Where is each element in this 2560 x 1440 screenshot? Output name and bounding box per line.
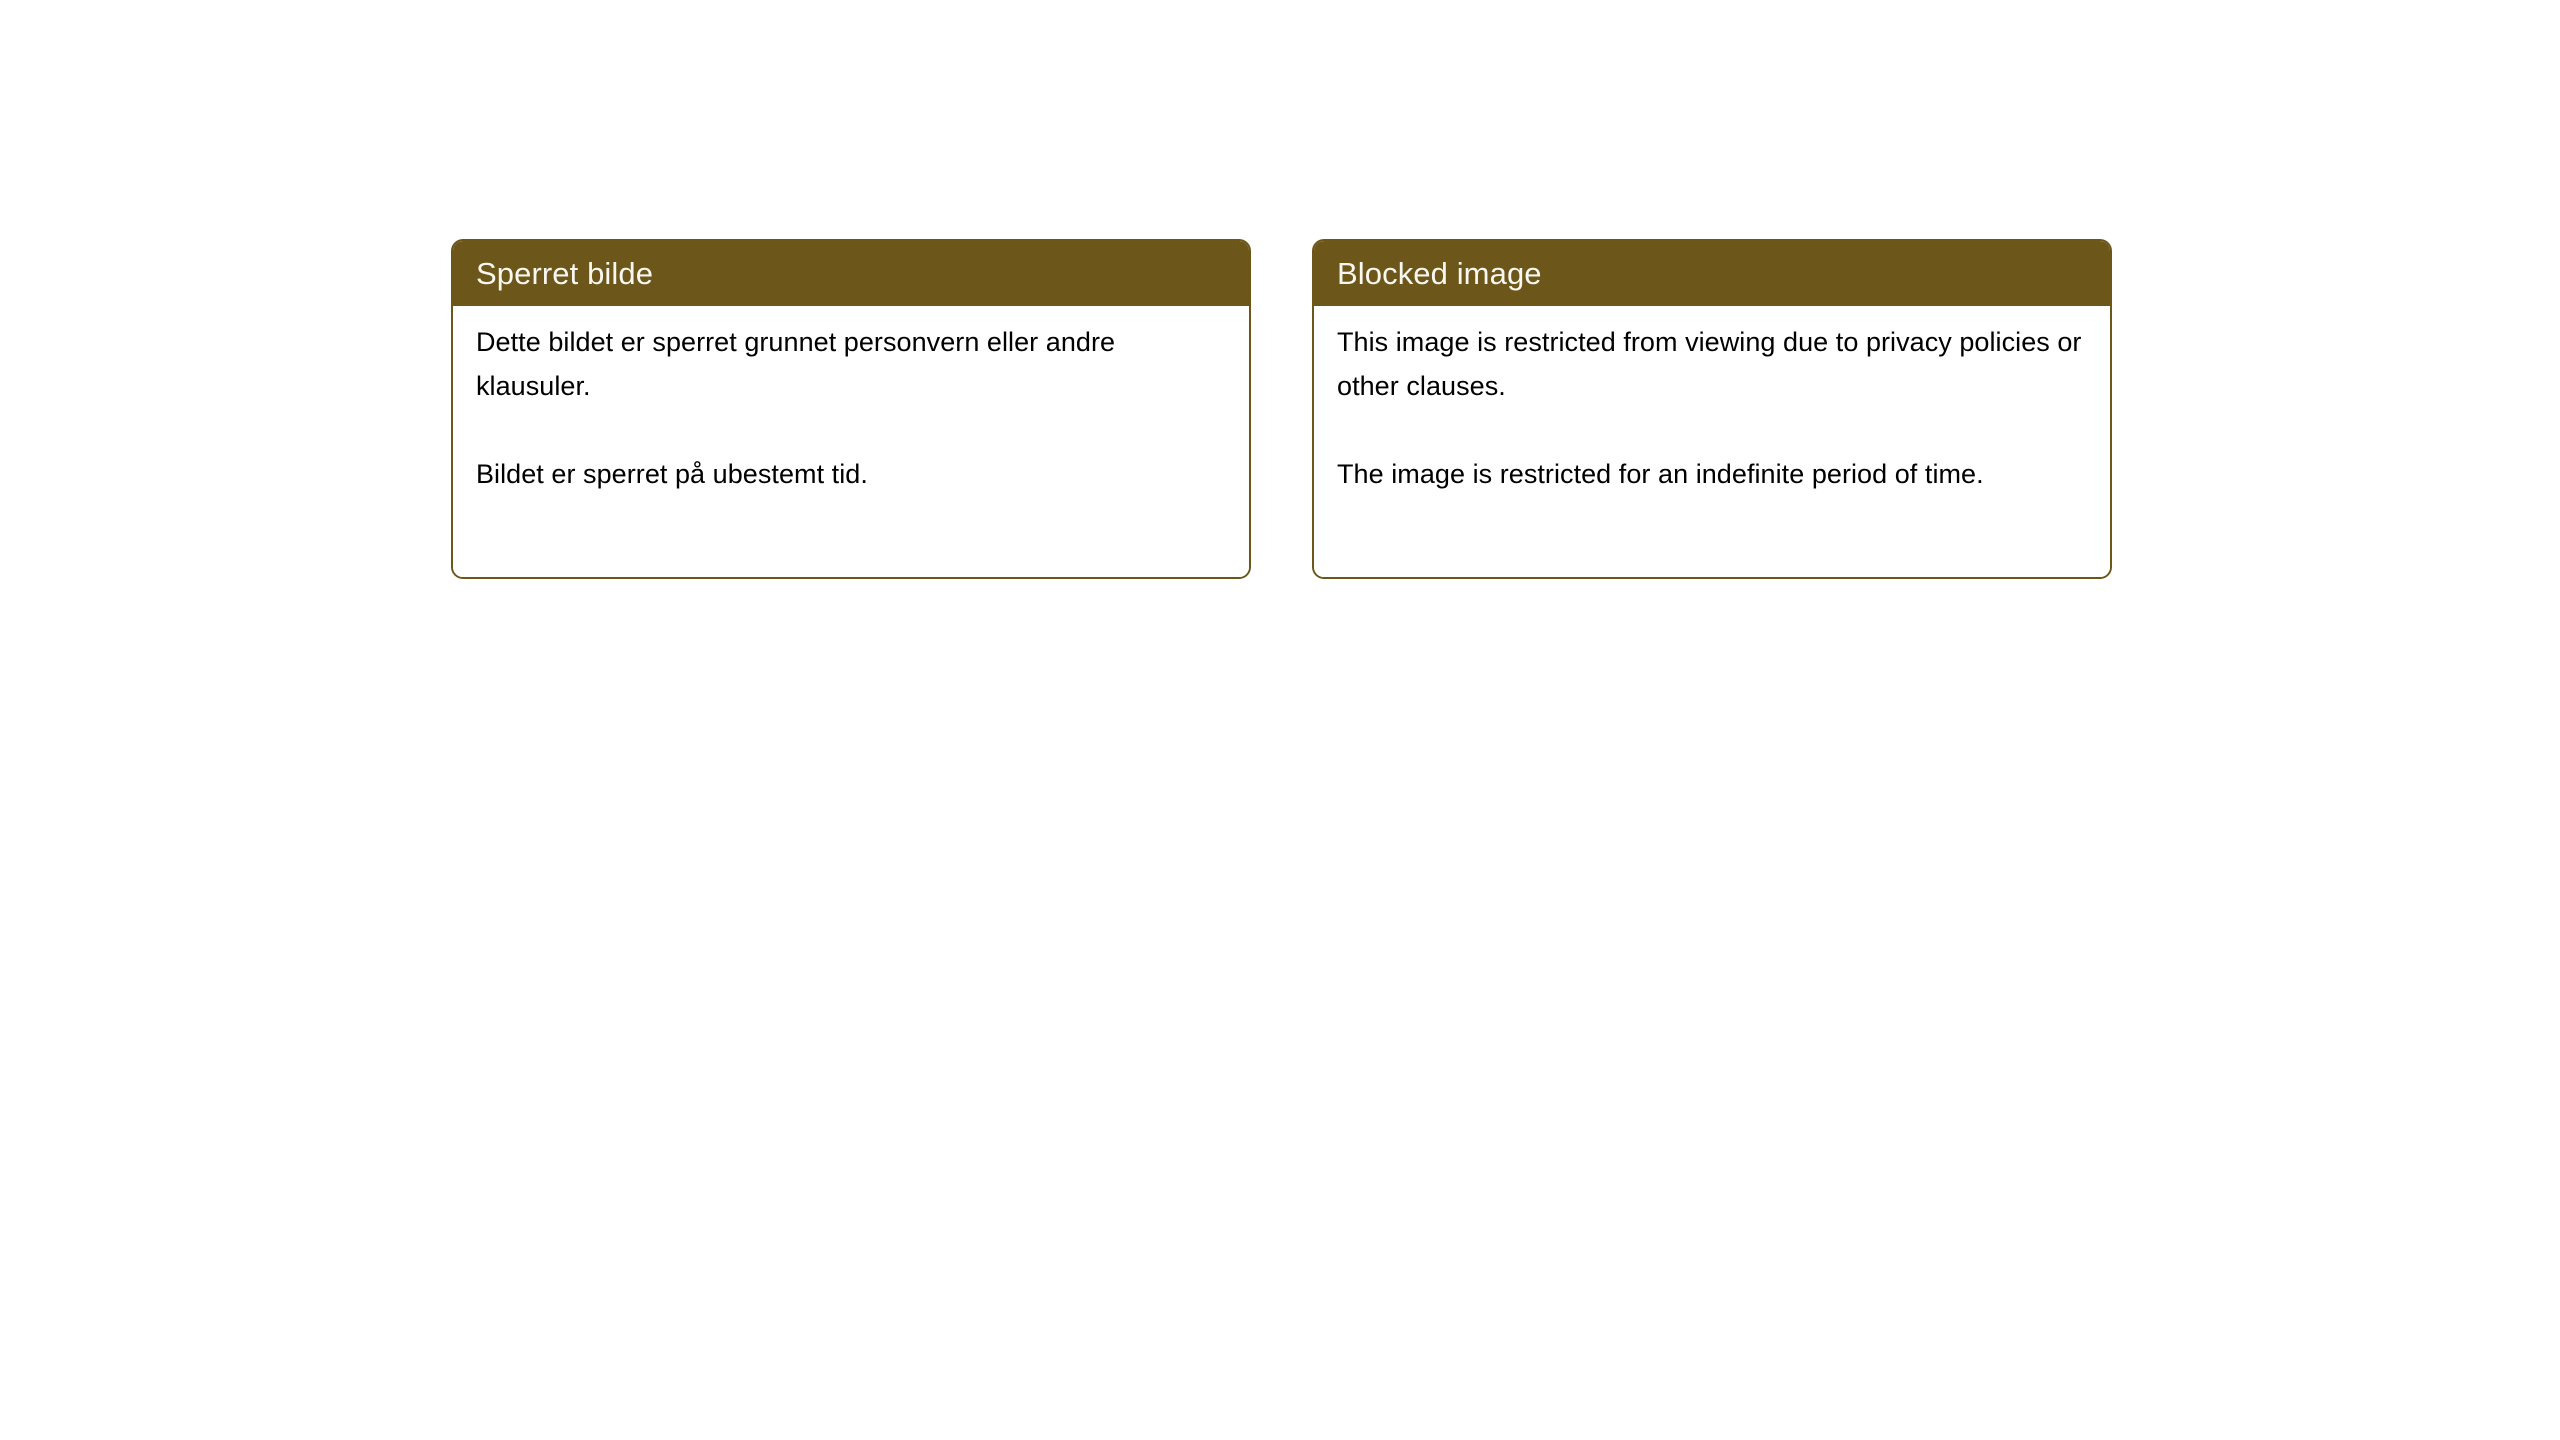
blocked-image-notice-card-no: Sperret bilde Dette bildet er sperret gr…: [451, 239, 1251, 579]
card-paragraph-no-2: Bildet er sperret på ubestemt tid.: [476, 452, 1223, 496]
page-root: Sperret bilde Dette bildet er sperret gr…: [0, 0, 2560, 1440]
card-title-no: Sperret bilde: [476, 258, 653, 289]
notice-card-group: Sperret bilde Dette bildet er sperret gr…: [451, 239, 2112, 579]
card-header-no: Sperret bilde: [453, 241, 1249, 306]
card-title-en: Blocked image: [1337, 258, 1542, 289]
card-paragraph-en-1: This image is restricted from viewing du…: [1337, 320, 2084, 408]
card-paragraph-en-2: The image is restricted for an indefinit…: [1337, 452, 2084, 496]
card-paragraph-no-1: Dette bildet er sperret grunnet personve…: [476, 320, 1223, 408]
card-body-en: This image is restricted from viewing du…: [1314, 306, 2110, 577]
card-header-en: Blocked image: [1314, 241, 2110, 306]
blocked-image-notice-card-en: Blocked image This image is restricted f…: [1312, 239, 2112, 579]
card-body-no: Dette bildet er sperret grunnet personve…: [453, 306, 1249, 577]
